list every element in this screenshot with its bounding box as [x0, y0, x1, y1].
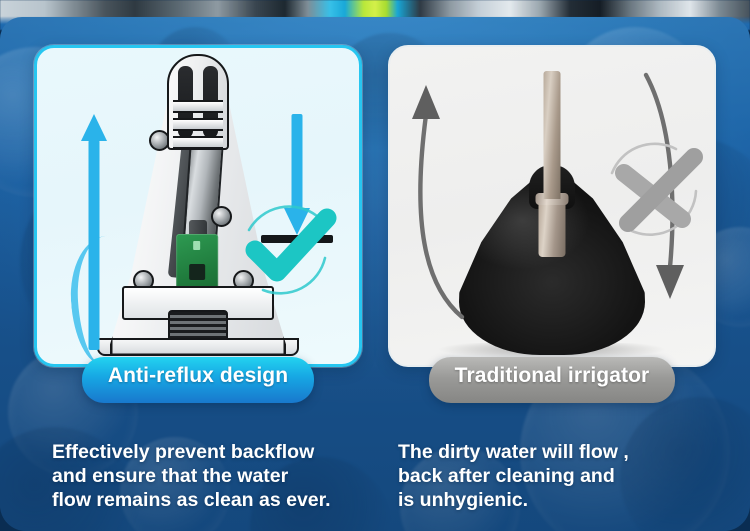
badges-row: Anti-reflux design Traditional irrigator	[0, 357, 750, 403]
left-badge-wrap: Anti-reflux design	[34, 357, 362, 403]
cross-icon	[598, 133, 710, 245]
anti-reflux-panel[interactable]	[34, 45, 362, 367]
check-icon	[233, 196, 341, 304]
anti-reflux-caption: Effectively prevent backflow and ensure …	[34, 441, 362, 512]
caption-line: is unhygienic.	[398, 489, 716, 513]
flow-swirl	[67, 234, 143, 366]
right-badge-wrap: Traditional irrigator	[388, 357, 716, 403]
device-nozzle	[167, 54, 229, 150]
panels-row	[0, 17, 750, 369]
caption-line: back after cleaning and	[398, 465, 716, 489]
caption-line: and ensure that the water	[52, 465, 362, 489]
traditional-irrigator-badge[interactable]: Traditional irrigator	[429, 357, 676, 403]
caption-line: flow remains as clean as ever.	[52, 489, 362, 513]
upward-flow-arrow-icon	[396, 71, 492, 321]
comparison-card: Anti-reflux design Traditional irrigator…	[0, 17, 750, 531]
traditional-irrigator-caption: The dirty water will flow , back after c…	[388, 441, 716, 512]
traditional-irrigator-panel[interactable]	[388, 45, 716, 367]
infographic-root: Anti-reflux design Traditional irrigator…	[0, 0, 750, 531]
anti-reflux-badge[interactable]: Anti-reflux design	[82, 357, 314, 403]
captions-row: Effectively prevent backflow and ensure …	[0, 441, 750, 512]
irrigator-nozzle	[544, 71, 561, 199]
caption-line: The dirty water will flow ,	[398, 441, 716, 465]
caption-line: Effectively prevent backflow	[52, 441, 362, 465]
